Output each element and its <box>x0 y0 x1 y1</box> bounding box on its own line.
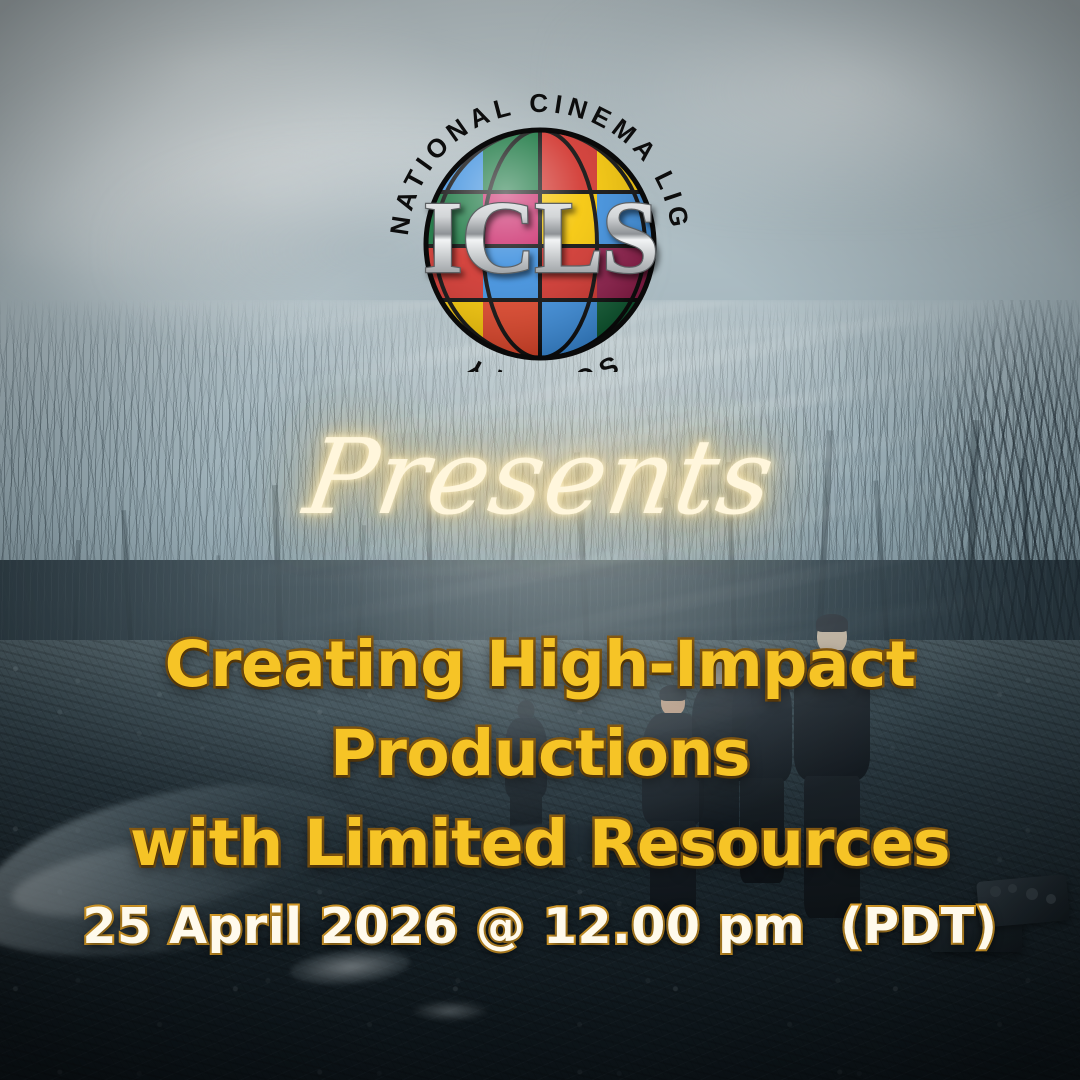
event-title: Creating High-Impact Productions with Li… <box>0 620 1080 888</box>
event-datetime: 25 April 2026 @ 12.00 pm (PDT) <box>0 898 1080 955</box>
event-title-line-2: with Limited Resources <box>0 799 1080 888</box>
icls-logo: INTERNATIONAL CINEMA LIGHTING SOCIETY <box>380 72 700 372</box>
presents-label: Presents <box>0 425 1080 529</box>
event-poster: INTERNATIONAL CINEMA LIGHTING SOCIETY <box>0 0 1080 1080</box>
logo-wordmark: ICLS <box>423 180 658 295</box>
event-title-line-1: Creating High-Impact Productions <box>0 620 1080 799</box>
svg-text:ICLS: ICLS <box>423 180 658 295</box>
